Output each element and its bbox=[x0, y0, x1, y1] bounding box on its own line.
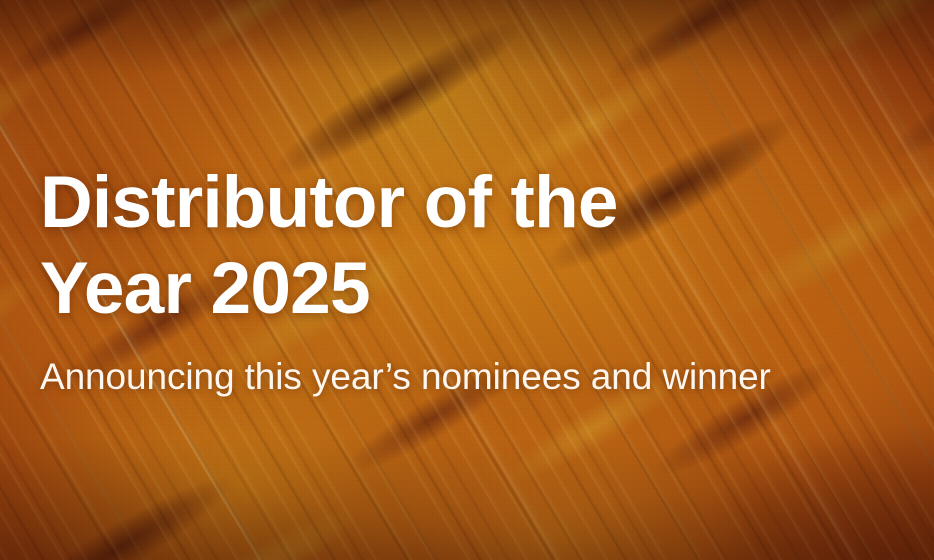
banner-subheadline: Announcing this year’s nominees and winn… bbox=[40, 354, 930, 400]
banner-headline: Distributor of the Year 2025 bbox=[40, 160, 800, 332]
distributor-of-the-year-banner: Distributor of the Year 2025 Announcing … bbox=[0, 0, 934, 560]
banner-content: Distributor of the Year 2025 Announcing … bbox=[0, 0, 934, 560]
